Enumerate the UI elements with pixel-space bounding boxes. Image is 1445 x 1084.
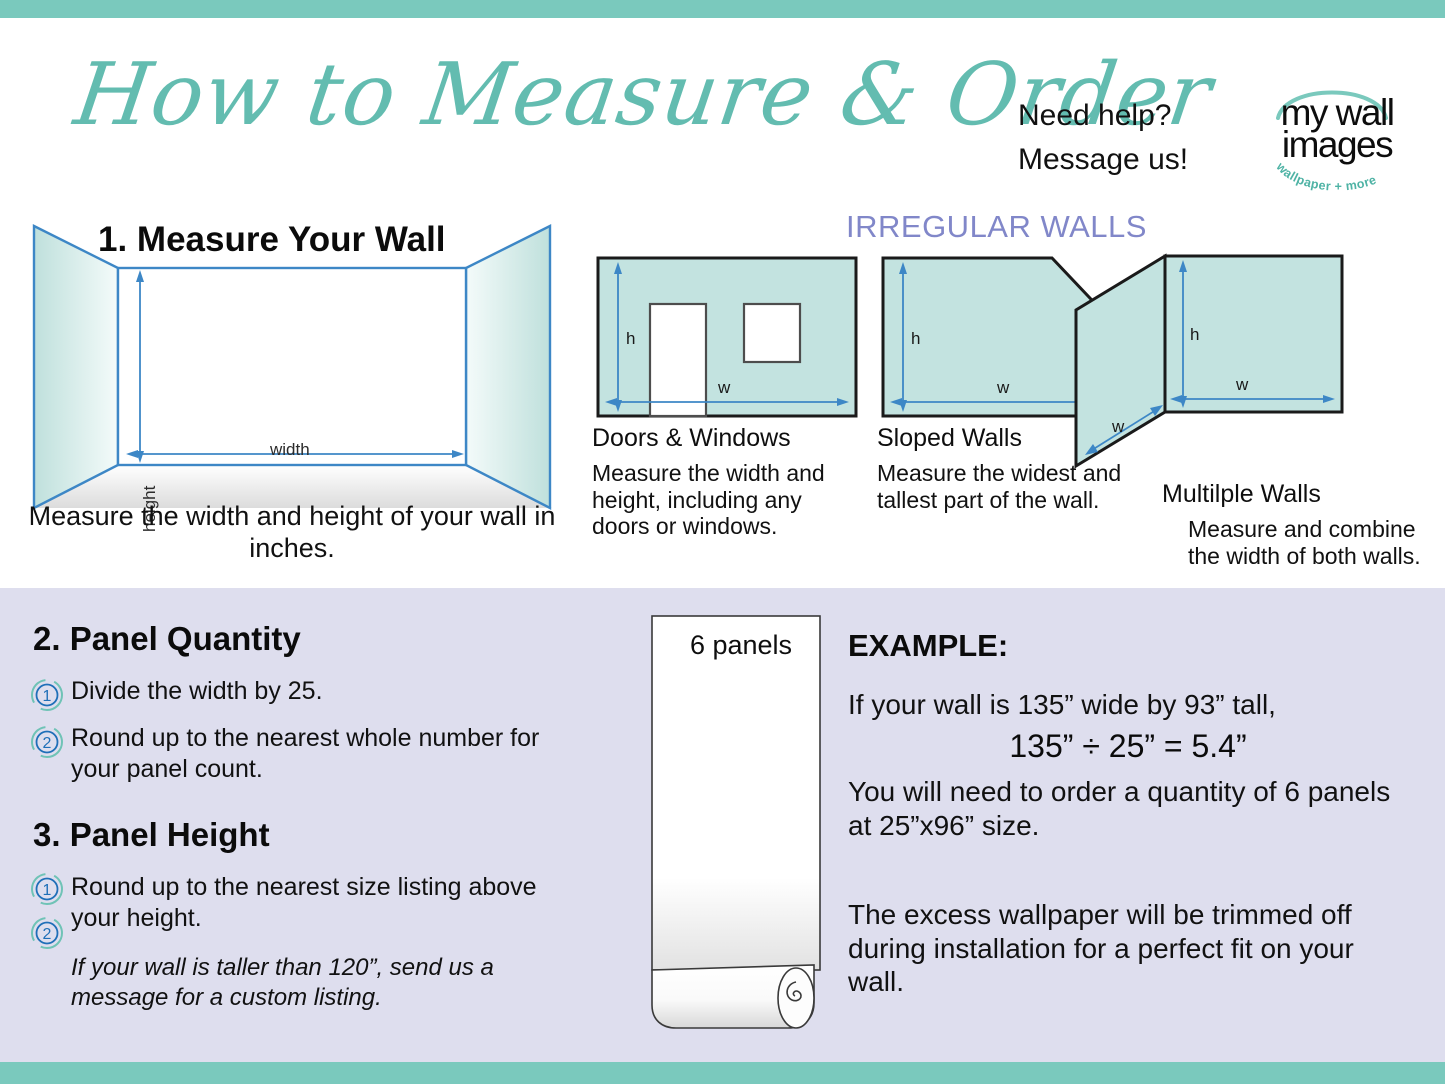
door-shape bbox=[650, 304, 706, 416]
h-label: h bbox=[1190, 325, 1199, 344]
doors-windows-diagram: h w bbox=[592, 252, 862, 424]
irregular-item-title: Doors & Windows bbox=[592, 424, 862, 453]
bullet-number-1-icon: 1 bbox=[30, 678, 64, 712]
infographic-page: How to Measure & Order Need help? Messag… bbox=[0, 0, 1445, 1084]
room-left-wall bbox=[34, 226, 118, 508]
h-label: h bbox=[626, 329, 635, 348]
need-help-line-2: Message us! bbox=[1018, 138, 1188, 182]
h-label: h bbox=[911, 329, 920, 348]
room-back-wall bbox=[118, 268, 466, 465]
irregular-item-title: Multilple Walls bbox=[1162, 480, 1432, 509]
w-label: w bbox=[717, 378, 731, 397]
step3-bullet-text: Round up to the nearest size listing abo… bbox=[71, 872, 571, 933]
example-line-1: If your wall is 135” wide by 93” tall, bbox=[848, 688, 1428, 722]
w-label: w bbox=[1235, 375, 1249, 394]
multiple-walls-diagram: h w w bbox=[1070, 252, 1350, 480]
bullet-number-text: 1 bbox=[43, 882, 52, 899]
roll-panel-count-label: 6 panels bbox=[652, 630, 830, 661]
roll-end-cap bbox=[778, 968, 814, 1028]
w2-label: w bbox=[1111, 417, 1125, 436]
step1-title: 1. Measure Your Wall bbox=[98, 220, 446, 260]
roll-sheet bbox=[652, 616, 820, 970]
bottom-accent-bar bbox=[0, 1062, 1445, 1084]
top-accent-bar bbox=[0, 0, 1445, 18]
logo-tagline-text: wallpaper + more bbox=[1273, 159, 1379, 194]
svg-text:wallpaper + more: wallpaper + more bbox=[1273, 159, 1379, 194]
need-help-line-1: Need help? bbox=[1018, 94, 1188, 138]
example-heading: EXAMPLE: bbox=[848, 628, 1008, 664]
step1-block: height width 1. Measure Your Wall Measur… bbox=[12, 212, 572, 572]
w-label: w bbox=[996, 378, 1010, 397]
step2-title: 2. Panel Quantity bbox=[33, 620, 301, 658]
irregular-item-multiple-walls: h w w Multilple Walls Measure and combin… bbox=[1162, 252, 1432, 569]
irregular-item-body: Measure and combine the width of both wa… bbox=[1188, 516, 1432, 569]
window-shape bbox=[744, 304, 800, 362]
step2-bullet-1-text: Divide the width by 25. bbox=[71, 676, 323, 707]
brand-logo: my wall images wallpaper + more bbox=[1262, 76, 1412, 206]
step1-caption: Measure the width and height of your wal… bbox=[12, 500, 572, 565]
bullet-number-2-icon: 2 bbox=[30, 725, 64, 759]
step3-note: If your wall is taller than 120”, send u… bbox=[71, 953, 561, 1013]
example-line-2: You will need to order a quantity of 6 p… bbox=[848, 775, 1418, 842]
header: How to Measure & Order Need help? Messag… bbox=[0, 18, 1445, 203]
step2-bullet-1: 1 Divide the width by 25. bbox=[30, 676, 550, 712]
bullet-number-text: 1 bbox=[43, 688, 52, 705]
irregular-item-doors-windows: h w Doors & Windows Measure the width an… bbox=[592, 252, 862, 540]
wallpaper-roll-illustration bbox=[636, 610, 836, 1040]
example-math: 135” ÷ 25” = 5.4” bbox=[848, 727, 1408, 765]
example-line-3: The excess wallpaper will be trimmed off… bbox=[848, 898, 1408, 999]
irregular-walls-heading: IRREGULAR WALLS bbox=[846, 209, 1147, 245]
step3-title: 3. Panel Height bbox=[33, 816, 270, 854]
logo-tagline: wallpaper + more bbox=[1267, 154, 1407, 202]
width-label: width bbox=[270, 440, 310, 460]
step3-bullet-markers: 1 2 bbox=[30, 872, 70, 950]
step2-bullet-2-text: Round up to the nearest whole number for… bbox=[71, 723, 550, 784]
irregular-item-body: Measure the width and height, including … bbox=[592, 460, 862, 540]
bullet-number-2-icon: 2 bbox=[30, 916, 64, 950]
bullet-number-text: 2 bbox=[43, 926, 52, 943]
step2-bullet-2: 2 Round up to the nearest whole number f… bbox=[30, 723, 550, 784]
bullet-number-1-icon: 1 bbox=[30, 872, 64, 906]
room-right-wall bbox=[466, 226, 550, 508]
need-help-text: Need help? Message us! bbox=[1018, 94, 1188, 181]
bullet-number-text: 2 bbox=[43, 735, 52, 752]
